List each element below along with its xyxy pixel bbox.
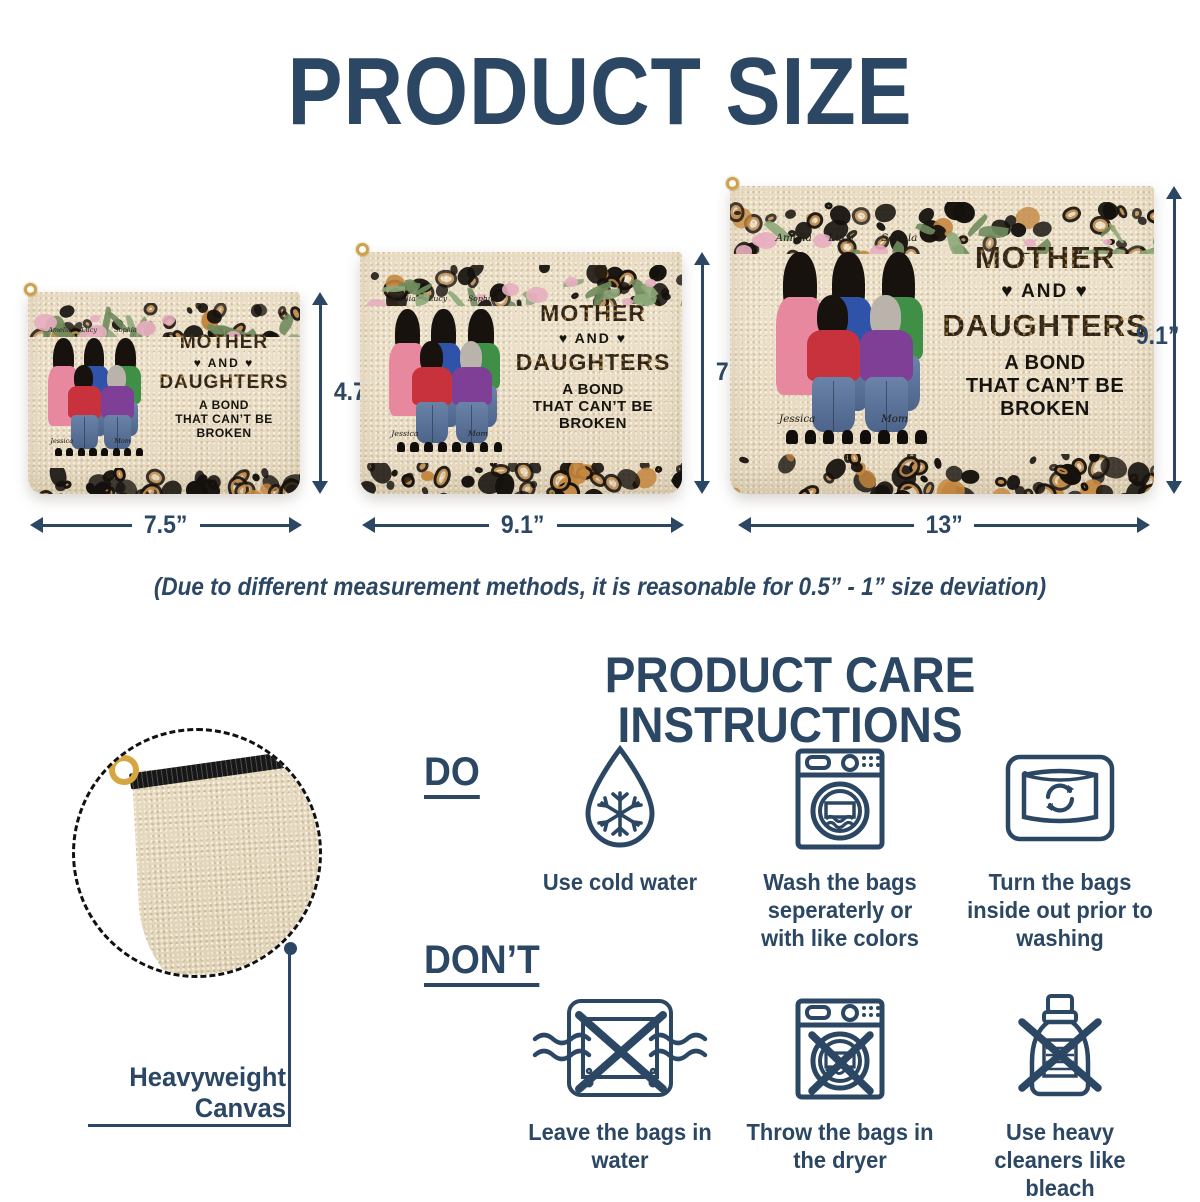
care-item-label: Use cold water xyxy=(525,868,715,896)
product-bag-medium: MOTHER ♥ AND ♥ DAUGHTERS A BOND THAT CAN… xyxy=(360,252,682,494)
figure-name-label: Amelia xyxy=(776,232,812,244)
figure-name-label: Lucy xyxy=(81,326,97,334)
product-bag-small: MOTHER ♥ AND ♥ DAUGHTERS A BOND THAT CAN… xyxy=(28,292,300,494)
product-bag-large: MOTHER ♥ AND ♥ DAUGHTERS A BOND THAT CAN… xyxy=(730,186,1154,494)
care-item-label: Wash the bags seperaterly or with like c… xyxy=(745,868,935,952)
heart-icon-left: ♥ xyxy=(559,330,569,346)
no-tumble-dry-icon xyxy=(740,990,940,1108)
heart-icon-left: ♥ xyxy=(1001,281,1014,303)
figure-name-label: Sophia xyxy=(114,326,137,334)
page-title: PRODUCT SIZE xyxy=(84,44,1116,140)
material-leader-line-horizontal xyxy=(88,1124,291,1127)
dimension-height-small xyxy=(306,292,334,494)
care-item-wash-separately: Wash the bags seperaterly or with like c… xyxy=(740,740,940,952)
figure-name-label: Jessica xyxy=(779,413,815,425)
heart-icon-left: ♥ xyxy=(194,356,203,370)
leopard-bottom-band xyxy=(730,454,1154,494)
dimension-width-small: 7.5” xyxy=(30,512,302,538)
bag-quote: MOTHER ♥ AND ♥ DAUGHTERS A BOND THAT CAN… xyxy=(512,300,674,432)
leopard-bottom-band xyxy=(360,463,682,494)
care-item-use-cold-water: Use cold water xyxy=(520,740,720,896)
figure-name-label: Sophia xyxy=(468,294,495,303)
bag-body: MOTHER ♥ AND ♥ DAUGHTERS A BOND THAT CAN… xyxy=(28,292,300,494)
figure-name-label: Mom xyxy=(468,429,488,438)
water-drop-snowflake-icon xyxy=(520,740,720,858)
care-item-label: Use heavy cleaners like bleach xyxy=(965,1118,1155,1202)
care-item-no-bleach: Use heavy cleaners like bleach xyxy=(960,990,1160,1202)
care-instructions-title: PRODUCT CARE INSTRUCTIONS xyxy=(431,650,1149,750)
dimension-width-medium: 9.1” xyxy=(362,512,684,538)
bag-quote: MOTHER ♥ AND ♥ DAUGHTERS A BOND THAT CAN… xyxy=(156,332,292,440)
care-item-label: Leave the bags in water xyxy=(525,1118,715,1174)
washing-machine-icon xyxy=(740,740,940,858)
heart-icon-right: ♥ xyxy=(1076,281,1089,303)
turn-inside-out-icon xyxy=(960,740,1160,858)
no-bleach-bottle-icon xyxy=(960,990,1160,1108)
zipper-pull-icon xyxy=(24,283,37,296)
figure-name-label: Amelia xyxy=(389,294,416,303)
figure-name-label: Jessica xyxy=(391,429,418,438)
care-item-label: Throw the bags in the dryer xyxy=(745,1118,935,1174)
care-item-no-soaking: Leave the bags in water xyxy=(520,990,720,1174)
care-item-no-tumble-dry: Throw the bags in the dryer xyxy=(740,990,940,1174)
zipper-pull-icon xyxy=(726,177,739,190)
zipper-pull-icon xyxy=(356,243,369,256)
figure-name-label: Sophia xyxy=(881,232,917,244)
material-label: Heavyweight Canvas xyxy=(96,1062,286,1124)
figure-name-label: Mom xyxy=(114,437,131,445)
dont-heading: DON’T xyxy=(424,940,540,987)
do-heading: DO xyxy=(424,752,480,799)
figure-name-label: Jessica xyxy=(50,437,73,445)
leopard-bottom-band xyxy=(28,468,300,494)
figure-name-label: Mom xyxy=(881,413,908,425)
no-soaking-icon xyxy=(520,990,720,1108)
material-detail-circle xyxy=(72,728,322,978)
care-item-label: Turn the bags inside out prior to washin… xyxy=(965,868,1155,952)
bag-body: MOTHER ♥ AND ♥ DAUGHTERS A BOND THAT CAN… xyxy=(360,252,682,494)
care-item-turn-inside-out: Turn the bags inside out prior to washin… xyxy=(960,740,1160,952)
dimension-width-large: 13” xyxy=(738,512,1150,538)
bag-quote: MOTHER ♥ AND ♥ DAUGHTERS A BOND THAT CAN… xyxy=(942,240,1148,421)
size-deviation-note: (Due to different measurement methods, i… xyxy=(60,573,1140,602)
figure-name-label: Lucy xyxy=(428,294,447,303)
figure-name-label: Amelia xyxy=(48,326,71,334)
heart-icon-right: ♥ xyxy=(245,356,254,370)
bag-body: MOTHER ♥ AND ♥ DAUGHTERS A BOND THAT CAN… xyxy=(730,186,1154,494)
material-leader-line-vertical xyxy=(288,948,291,1126)
dimension-height-medium xyxy=(688,252,716,494)
heart-icon-right: ♥ xyxy=(617,330,627,346)
figure-name-label: Lucy xyxy=(828,232,853,244)
